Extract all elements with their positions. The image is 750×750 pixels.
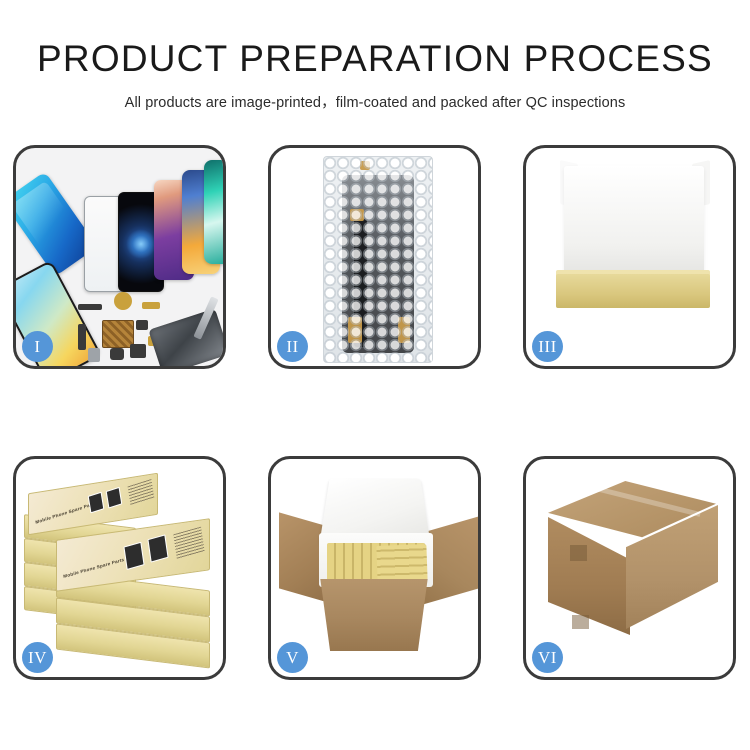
process-step-5[interactable]: V: [268, 456, 481, 680]
spare-part-connector: [142, 302, 160, 309]
step-badge-5: V: [277, 642, 308, 673]
box-spec-lines-b: [173, 527, 204, 560]
carton-tape-patch-lower: [572, 615, 589, 629]
process-step-3[interactable]: III: [523, 145, 736, 369]
spare-part-sim-tray: [88, 348, 100, 362]
step-badge-1: I: [22, 331, 53, 362]
yellow-inner-box: [556, 274, 710, 308]
wrapped-connector-top: [350, 209, 364, 221]
step-badge-6: VI: [532, 642, 563, 673]
step-badge-2: II: [277, 331, 308, 362]
carton-front-panel: [313, 579, 435, 651]
foam-sheet: [564, 166, 704, 280]
box-spec-lines-a: [128, 479, 155, 506]
sealed-carton-left-face: [548, 517, 630, 635]
step-badge-4: IV: [22, 642, 53, 673]
box-stack: Mobile Phone Spare Parts Mobile Phone Sp…: [22, 473, 222, 673]
box-label-top-front: Mobile Phone Spare Parts: [63, 557, 125, 579]
page-title: PRODUCT PREPARATION PROCESS: [0, 40, 750, 77]
box-window-screen-b: [106, 487, 123, 509]
wrapped-connector-bottom-left: [348, 317, 362, 343]
spare-part-vibrator: [130, 344, 146, 358]
box-label-top-back: Mobile Phone Spare Parts: [35, 501, 97, 525]
phone-back-housing: [148, 308, 223, 366]
box-window-screen-d: [147, 534, 168, 562]
spare-part-button: [110, 348, 124, 360]
process-step-2[interactable]: II: [268, 145, 481, 369]
box-window-screen-c: [123, 542, 144, 570]
step-badge-3: III: [532, 331, 563, 362]
page-subtitle: All products are image-printed，film-coat…: [0, 91, 750, 112]
page-header: PRODUCT PREPARATION PROCESS All products…: [0, 0, 750, 112]
teal-gradient-phone: [204, 160, 223, 264]
loaded-yellow-boxes-row-b: [376, 544, 427, 582]
process-step-grid: I II III: [13, 145, 737, 680]
spare-part-flex-cable-left: [78, 324, 86, 350]
bubble-wrap-bag: [323, 156, 433, 363]
spare-part-speaker: [114, 292, 132, 310]
process-step-6[interactable]: VI: [523, 456, 736, 680]
process-step-4[interactable]: Mobile Phone Spare Parts Mobile Phone Sp…: [13, 456, 226, 680]
wrapped-tab: [360, 161, 370, 170]
carton-tape-patch-upper: [570, 545, 587, 561]
process-step-1[interactable]: I: [13, 145, 226, 369]
wrapped-connector-bottom-right: [398, 317, 410, 343]
box-window-screen-a: [88, 492, 105, 514]
spare-part-strip: [78, 304, 102, 310]
spare-part-camera: [136, 320, 148, 330]
spare-part-logic-board: [102, 320, 134, 348]
